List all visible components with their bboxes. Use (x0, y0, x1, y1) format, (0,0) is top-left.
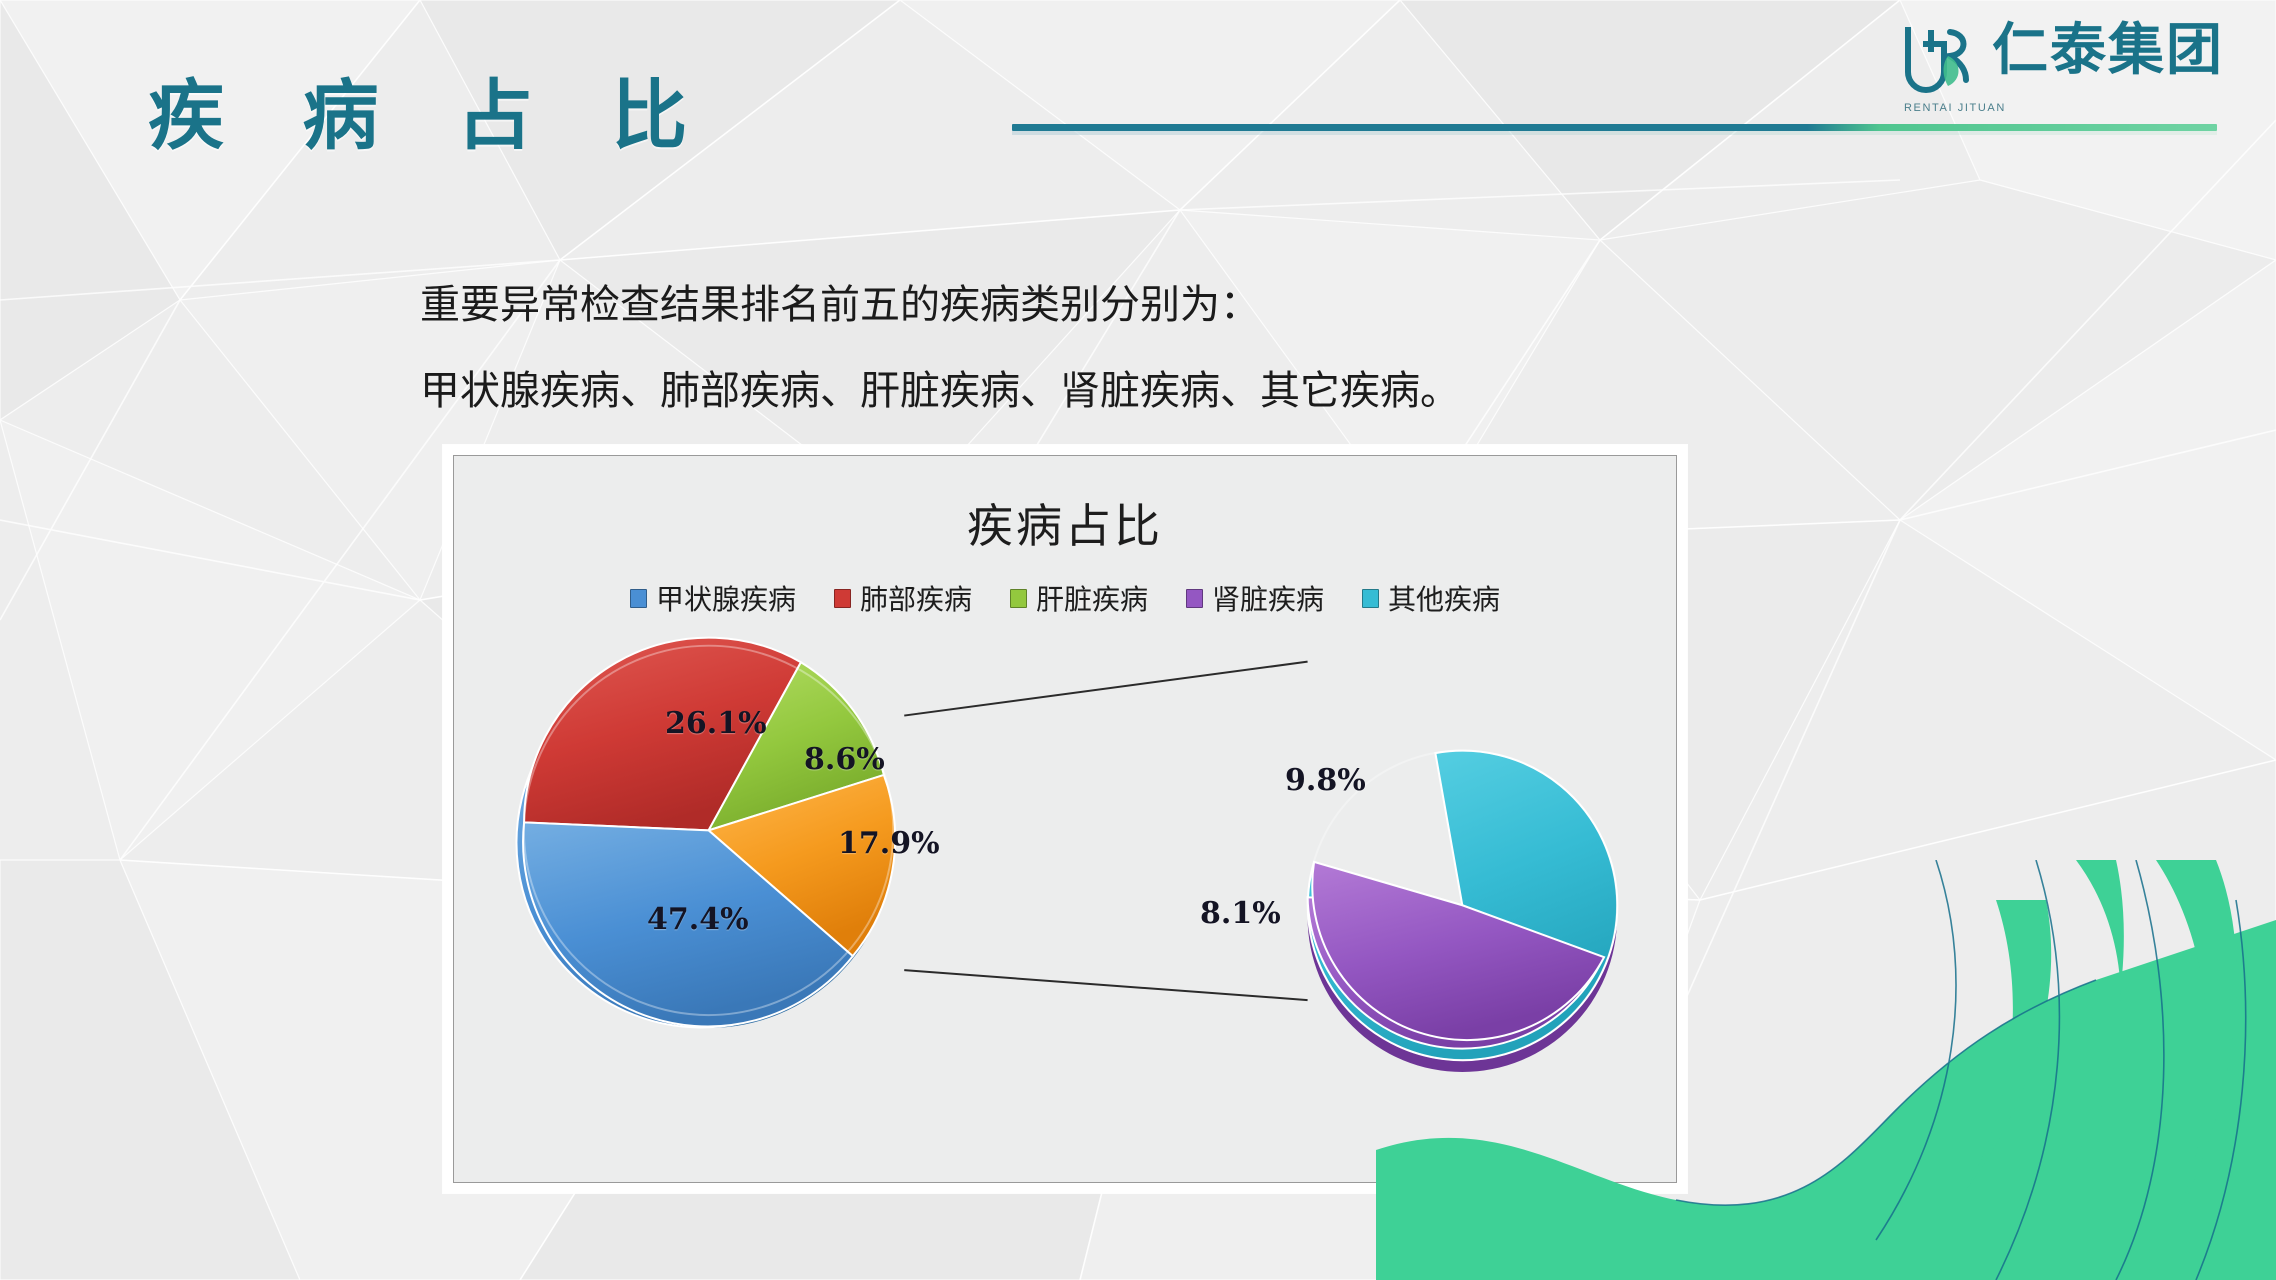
brand-logo: RENTAI JITUAN 仁泰集团 (1898, 22, 2224, 94)
slice-label-lung: 26.1% (665, 706, 767, 741)
page-title: 疾 病 占 比 (148, 78, 713, 154)
secondary-pie (1308, 751, 1618, 1072)
slice-label-kidney: 8.1% (1200, 896, 1281, 931)
body-line-1: 重要异常检查结果排名前五的疾病类别分别为： (420, 262, 1460, 348)
title-divider-shadow (1012, 131, 2217, 135)
logo-mark-icon: RENTAI JITUAN (1898, 22, 1974, 94)
logo-pinyin-text: RENTAI JITUAN (1904, 102, 2006, 114)
pie-of-pie-chart (454, 456, 1676, 1183)
slice-label-other-group: 17.9% (838, 826, 940, 861)
chart-frame: 疾病占比 甲状腺疾病 肺部疾病 肝脏疾病 肾脏疾病 其他疾病 (443, 445, 1687, 1193)
body-line-2: 甲状腺疾病、肺部疾病、肝脏疾病、肾脏疾病、其它疾病。 (420, 348, 1460, 434)
title-divider-rule (1012, 124, 2217, 131)
body-copy: 重要异常检查结果排名前五的疾病类别分别为： 甲状腺疾病、肺部疾病、肝脏疾病、肾脏… (420, 262, 1460, 434)
slice-label-other-disease: 9.8% (1285, 763, 1366, 798)
slice-label-liver: 8.6% (804, 742, 885, 777)
logo-wordmark: 仁泰集团 (1992, 22, 2224, 81)
slice-label-thyroid: 47.4% (647, 902, 749, 937)
chart-plot-area: 疾病占比 甲状腺疾病 肺部疾病 肝脏疾病 肾脏疾病 其他疾病 (453, 455, 1677, 1183)
